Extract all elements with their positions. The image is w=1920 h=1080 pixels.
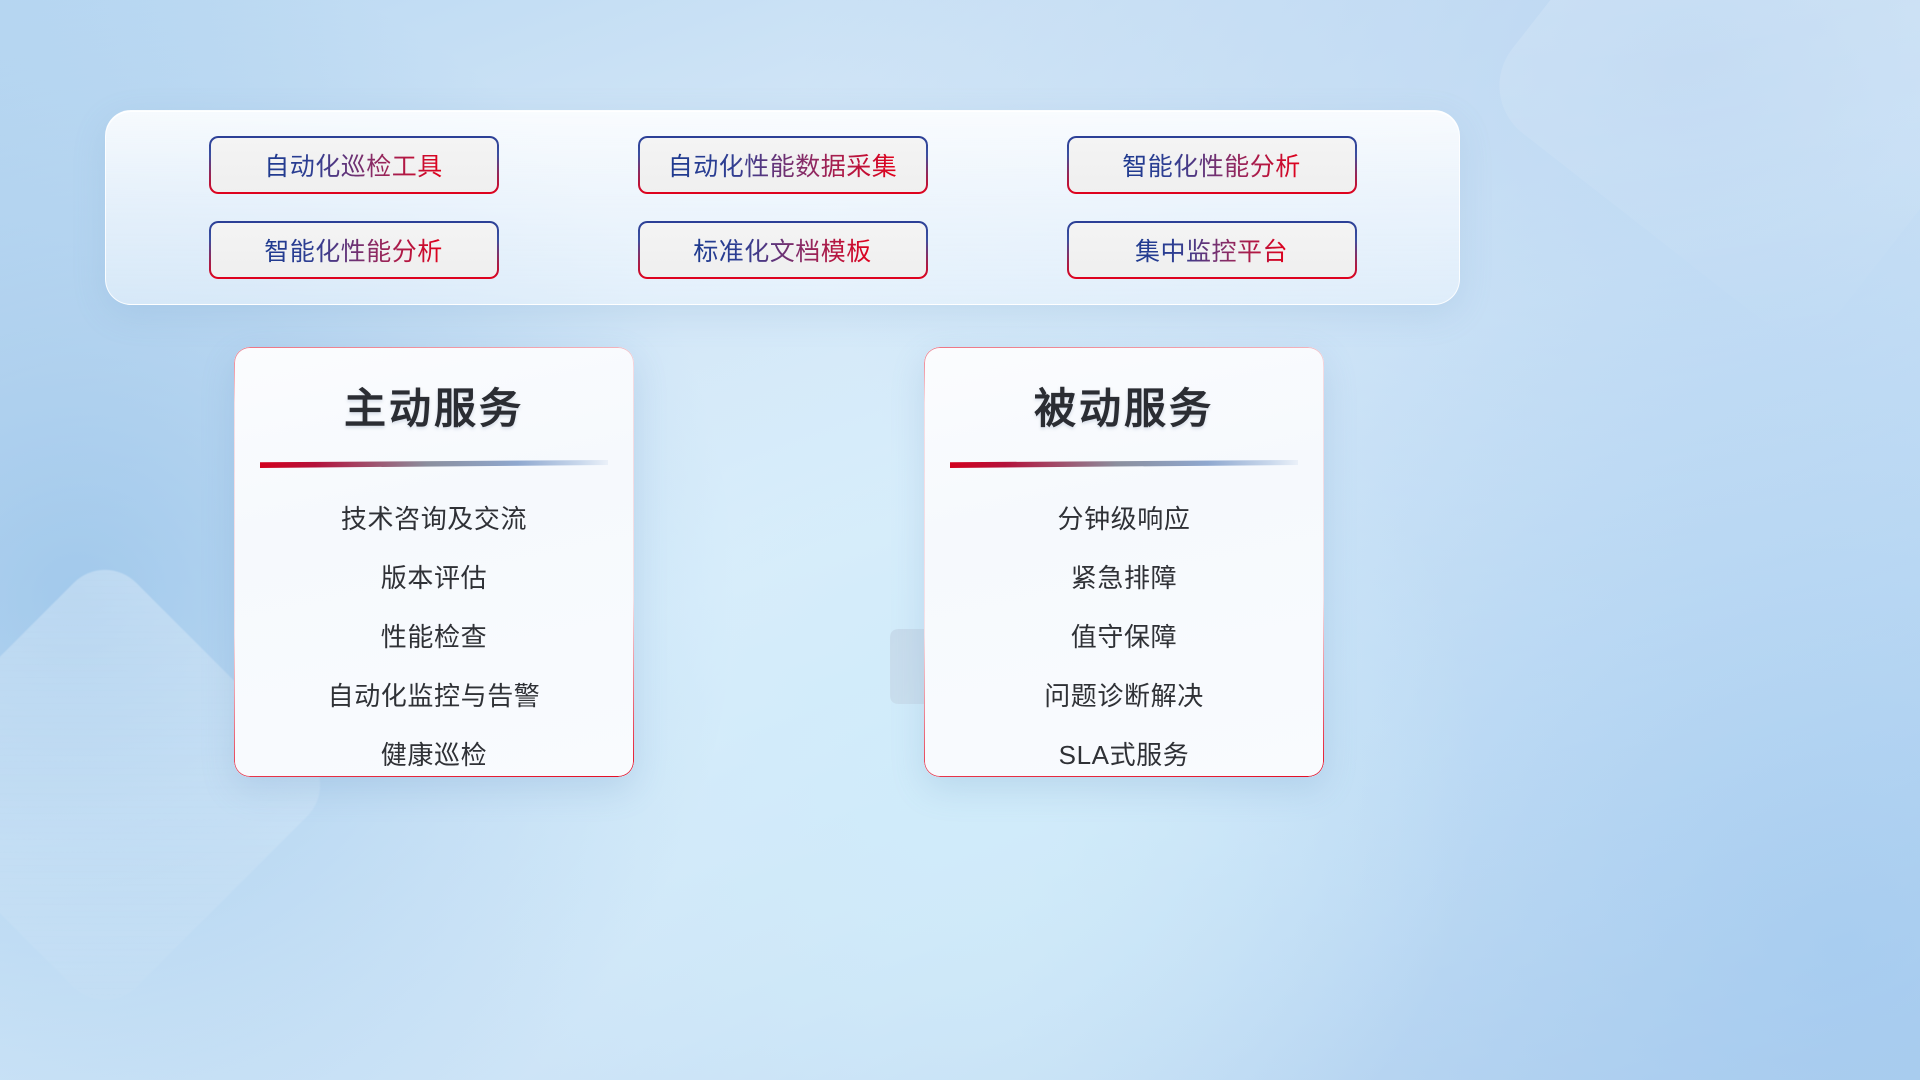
list-item: 健康巡检 (381, 726, 487, 777)
list-item: 值守保障 (1071, 608, 1177, 667)
list-item: 分钟级响应 (1057, 490, 1190, 549)
list-item: 问题诊断解决 (1044, 667, 1204, 726)
capability-tags-panel: 自动化巡检工具 自动化性能数据采集 智能化性能分析 智能化性能分析 标准化文档模… (105, 110, 1460, 305)
list-item: 性能检查 (381, 608, 487, 667)
page-root: 自动化巡检工具 自动化性能数据采集 智能化性能分析 智能化性能分析 标准化文档模… (0, 0, 1920, 1080)
capability-tag-label: 智能化性能分析 (1122, 147, 1301, 183)
list-item: 紧急排障 (1071, 549, 1177, 608)
service-list: 分钟级响应 紧急排障 值守保障 问题诊断解决 SLA式服务 (924, 490, 1324, 777)
card-divider (950, 460, 1298, 468)
capability-tag[interactable]: 自动化巡检工具 (209, 136, 499, 194)
capability-tag[interactable]: 自动化性能数据采集 (638, 136, 928, 194)
capability-tag-label: 智能化性能分析 (264, 232, 443, 268)
list-item: 版本评估 (381, 549, 487, 608)
card-divider (260, 460, 608, 468)
list-item: SLA式服务 (1059, 726, 1190, 777)
capability-tag-label: 自动化巡检工具 (264, 147, 443, 183)
capability-tag[interactable]: 标准化文档模板 (638, 221, 928, 279)
decorative-square-right (1475, 0, 1920, 355)
list-item: 技术咨询及交流 (341, 490, 527, 549)
service-list: 技术咨询及交流 版本评估 性能检查 自动化监控与告警 健康巡检 (234, 490, 634, 777)
capability-tag[interactable]: 智能化性能分析 (209, 221, 499, 279)
card-title: 被动服务 (924, 375, 1324, 436)
capability-tag-label: 集中监控平台 (1135, 232, 1288, 268)
capability-tag-label: 标准化文档模板 (693, 232, 872, 268)
card-title: 主动服务 (234, 375, 634, 436)
list-item: 自动化监控与告警 (328, 667, 541, 726)
capability-tag[interactable]: 智能化性能分析 (1067, 136, 1357, 194)
proactive-service-card[interactable]: 主动服务 技术咨询及交流 版本评估 性能检查 自动化监控与告警 健康巡检 (234, 347, 634, 777)
reactive-service-card[interactable]: 被动服务 分钟级响应 紧急排障 值守保障 问题诊断解决 SLA式服务 (924, 347, 1324, 777)
capability-tag-label: 自动化性能数据采集 (668, 147, 898, 183)
capability-tag[interactable]: 集中监控平台 (1067, 221, 1357, 279)
